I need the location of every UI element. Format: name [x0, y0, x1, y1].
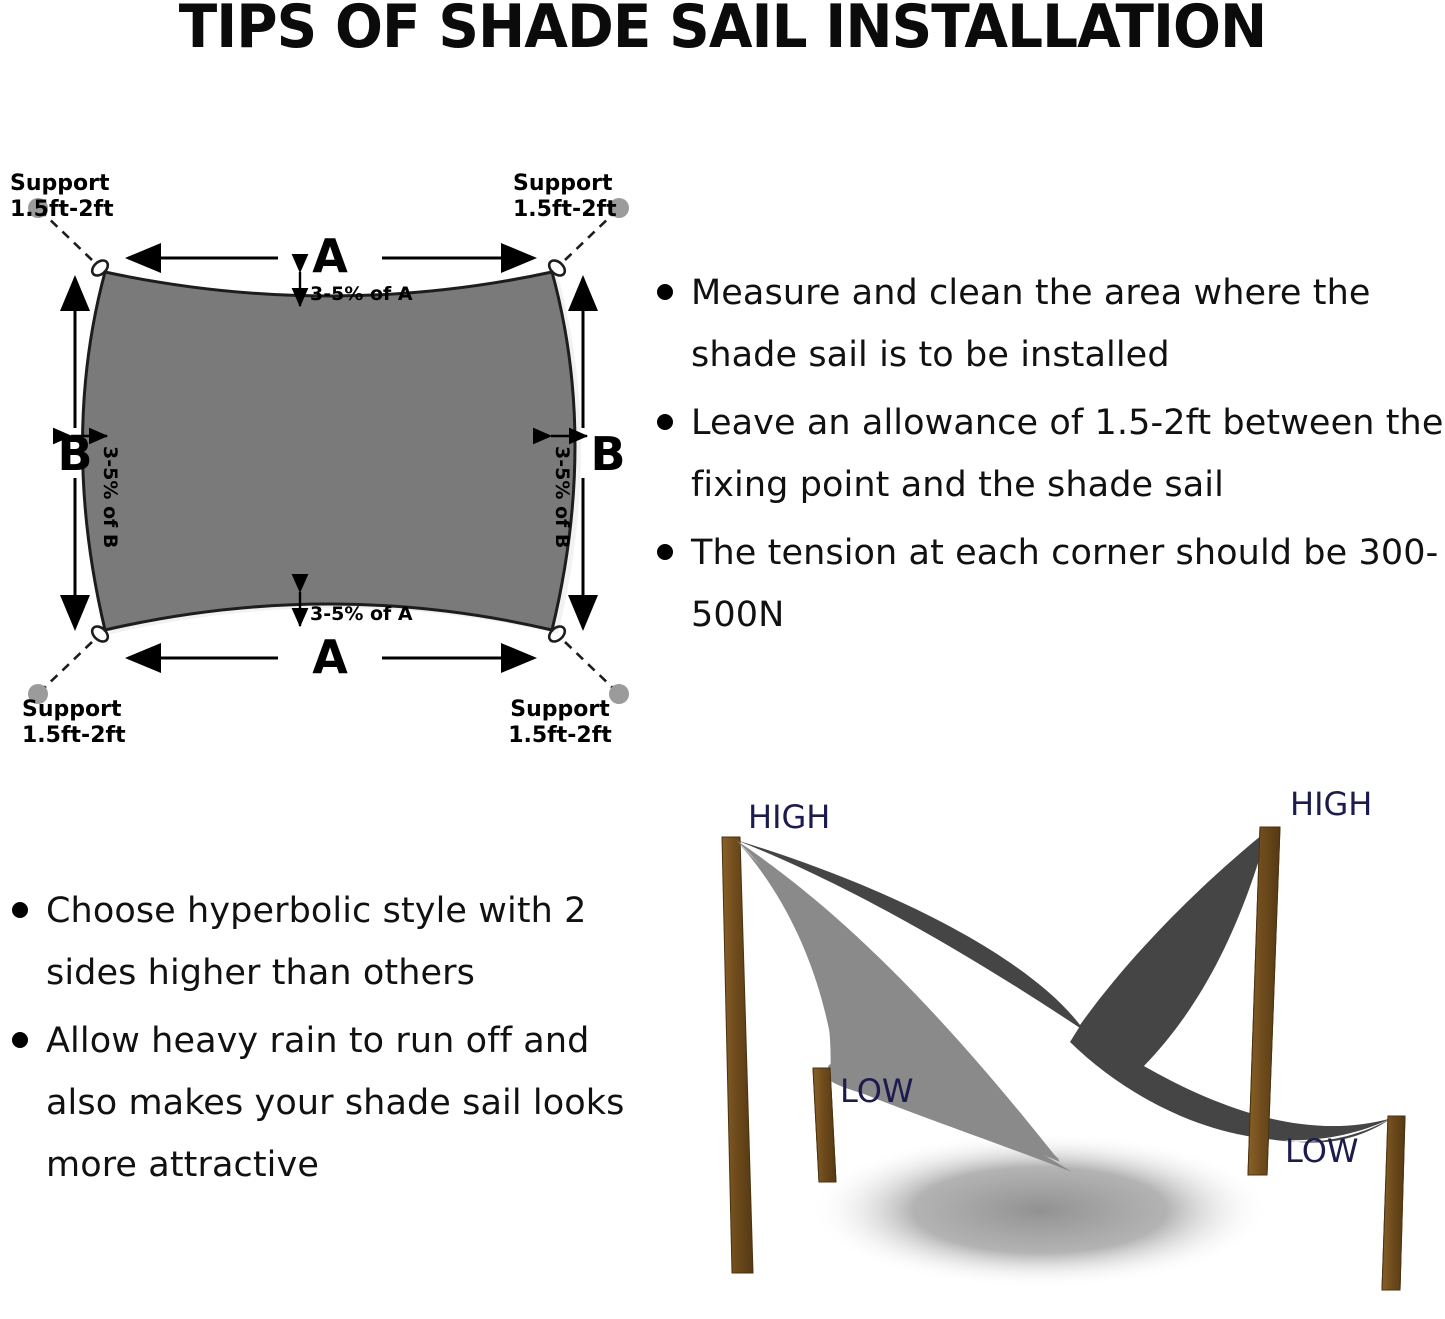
- tip-text: Leave an allowance of 1.5-2ft between th…: [691, 403, 1443, 505]
- support-bl-line2: 1.5ft-2ft: [22, 723, 126, 748]
- hyperbolic-sail-diagram: HIGH HIGH LOW LOW: [640, 780, 1445, 1319]
- label-low-left: LOW: [840, 1072, 914, 1110]
- tip-item: Measure and clean the area where the sha…: [645, 262, 1445, 386]
- bullet-dot-icon: [657, 414, 673, 430]
- hyperbolic-tip-text: Allow heavy rain to run off and also mak…: [46, 1021, 624, 1185]
- post-low-left-front: [813, 1068, 836, 1182]
- label-a-top: A: [312, 229, 348, 283]
- sail-shape: [83, 272, 582, 634]
- bullet-dot-icon: [657, 284, 673, 300]
- label-sag-a-bottom: 3-5% of A: [310, 603, 413, 625]
- label-a-bottom: A: [312, 630, 348, 684]
- post-high-left: [722, 837, 753, 1273]
- label-sag-a-top: 3-5% of A: [310, 283, 413, 305]
- support-tl-line1: Support: [10, 171, 110, 196]
- dimension-b-right: B: [583, 278, 626, 628]
- hyperbolic-tips-panel: Choose hyperbolic style with 2 sides hig…: [0, 880, 630, 1210]
- hyperbolic-tip-text: Choose hyperbolic style with 2 sides hig…: [46, 891, 587, 993]
- tip-item: Leave an allowance of 1.5-2ft between th…: [645, 392, 1445, 516]
- bullet-dot-icon: [657, 544, 673, 560]
- installation-tips-panel: Measure and clean the area where the sha…: [645, 262, 1445, 672]
- dimension-a-top: A: [128, 229, 534, 283]
- support-tl-line2: 1.5ft-2ft: [10, 197, 114, 222]
- label-high-left: HIGH: [748, 798, 830, 836]
- tip-text: The tension at each corner should be 300…: [691, 533, 1438, 635]
- support-dot-bottom-right: [609, 684, 629, 704]
- hyperbolic-tips-list: Choose hyperbolic style with 2 sides hig…: [0, 880, 630, 1196]
- support-br-line1: Support: [510, 697, 610, 722]
- tip-text: Measure and clean the area where the sha…: [691, 273, 1371, 375]
- rectangular-sail-diagram: A A B B 3-5% of A 3-5% of A: [0, 160, 660, 740]
- rect-sail-svg: A A B B 3-5% of A 3-5% of A: [0, 160, 660, 740]
- hyperbolic-sail-surface: [736, 830, 1392, 1172]
- support-br-line2: 1.5ft-2ft: [508, 723, 612, 748]
- installation-tips-list: Measure and clean the area where the sha…: [645, 262, 1445, 646]
- dimension-b-left: B: [57, 278, 92, 628]
- label-low-right: LOW: [1285, 1132, 1359, 1170]
- bullet-dot-icon: [12, 902, 28, 918]
- hyper-sail-svg: HIGH HIGH LOW LOW: [640, 780, 1445, 1319]
- label-high-right: HIGH: [1290, 785, 1372, 823]
- dimension-a-bottom: A: [128, 630, 534, 684]
- label-b-right: B: [590, 427, 625, 481]
- hyperbolic-tip-item: Allow heavy rain to run off and also mak…: [0, 1010, 630, 1196]
- bullet-dot-icon: [12, 1032, 28, 1048]
- support-bl-line1: Support: [22, 697, 122, 722]
- tip-item: The tension at each corner should be 300…: [645, 522, 1445, 646]
- support-tr-line2: 1.5ft-2ft: [513, 197, 617, 222]
- label-sag-b-left: 3-5% of B: [99, 446, 121, 548]
- support-tr-line1: Support: [513, 171, 613, 196]
- hyperbolic-tip-item: Choose hyperbolic style with 2 sides hig…: [0, 880, 630, 1004]
- page-title: TIPS OF SHADE SAIL INSTALLATION: [43, 0, 1401, 60]
- post-low-right-front: [1382, 1116, 1405, 1290]
- label-sag-b-right: 3-5% of B: [551, 446, 573, 548]
